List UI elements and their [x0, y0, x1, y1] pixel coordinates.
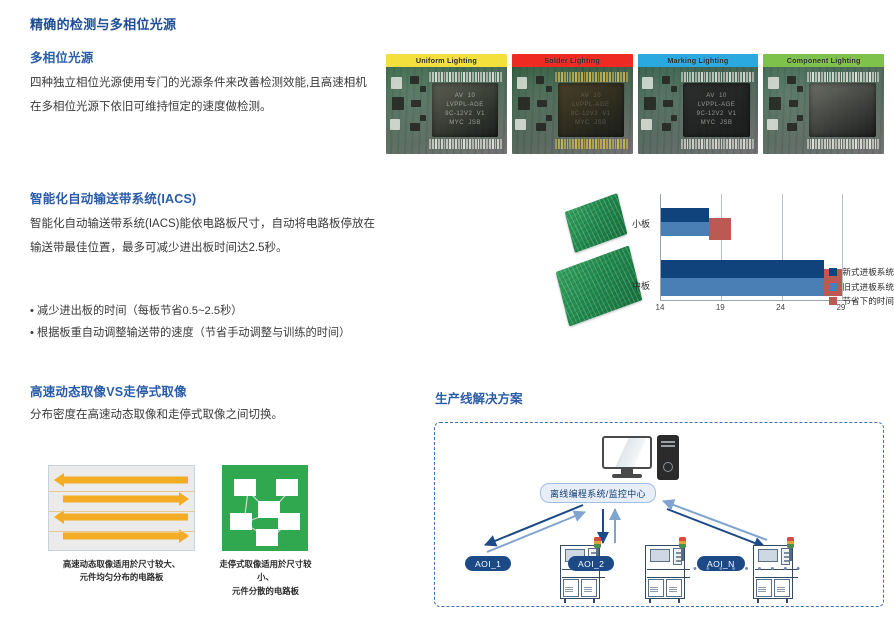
station-ellipsis: • • • • • • • • • [693, 563, 803, 575]
chart-tick-label: 29 [836, 303, 845, 312]
chart-bar-group-1 [661, 260, 854, 296]
pcb-thumbnail-small [568, 202, 624, 244]
chart-category-label-1: 中板 [632, 279, 650, 292]
stop-go-scan-caption: 走停式取像适用於尺寸较小、 元件分散的电路板 [212, 558, 319, 598]
machine-vent [650, 587, 658, 592]
ic-chip: AV 10 LVPPL-AGE 9C-12V2 V1 MYC JSB [558, 83, 624, 137]
pcb-photo-image: AV 10 LVPPL-AGE 9C-12V2 V1 MYC JSB [512, 67, 633, 154]
dynamic-scan-illustration [48, 465, 195, 551]
lighting-photo-4: Component Lighting [763, 54, 884, 154]
ic-chip-marking: AV 10 LVPPL-AGE 9C-12V2 V1 MYC JSB [697, 92, 737, 128]
chart-tick-label: 19 [716, 303, 725, 312]
lighting-photo-3: Marking LightingAV 10 LVPPL-AGE 9C-12V2 … [638, 54, 759, 154]
ic-chip-marking: AV 10 LVPPL-AGE 9C-12V2 V1 MYC JSB [571, 92, 611, 128]
section-lighting-title: 多相位光源 [30, 47, 94, 66]
chip-pin-row [807, 72, 879, 82]
signal-tower-lamp [594, 537, 601, 548]
chip-pin-row [555, 72, 627, 82]
chip-pin-row [807, 139, 879, 149]
machine-screen [650, 549, 670, 562]
chip-pin-row [681, 139, 753, 149]
pcb-photo-image: AV 10 LVPPL-AGE 9C-12V2 V1 MYC JSB [386, 67, 507, 154]
chart-bar-old-system [661, 222, 709, 236]
board-time-chart: 小板 中板 新式进板系统旧式进板系统节省下的时间 14192429 [560, 186, 894, 330]
signal-tower-lamp [679, 537, 686, 548]
chip-pin-row [555, 139, 627, 149]
signal-tower-lamp [787, 537, 794, 548]
ic-chip [809, 83, 875, 137]
lighting-photo-caption: Marking Lighting [638, 54, 759, 67]
iacs-bullet-2: • 根据板重自动调整输送带的速度（节省手动调整与训练的时间） [30, 322, 385, 344]
dynamic-scan-caption: 高速动态取像适用於尺寸较大、 元件均匀分布的电路板 [30, 558, 213, 585]
section-iacs-bullets: • 减少进出板的时间（每板节省0.5~2.5秒）• 根据板重自动调整输送带的速度… [30, 300, 385, 345]
machine-screen [758, 549, 778, 562]
lighting-photo-caption: Uniform Lighting [386, 54, 507, 67]
production-line-diagram: 离线编程系统/监控中心 AOI_1AOI_2AOI_N • • • • • • … [434, 422, 884, 607]
chip-pin-row [429, 139, 501, 149]
chart-legend-item-1: 旧式进板系统 [829, 281, 894, 293]
aoi-machine-2 [645, 537, 692, 599]
chart-bar-time-saved [709, 218, 731, 240]
pc-tower-icon [657, 435, 679, 480]
machine-vent [584, 587, 592, 592]
machine-vent [758, 587, 766, 592]
chart-tick-label: 14 [656, 303, 665, 312]
monitor-icon [602, 436, 652, 478]
aoi-station-label-1[interactable]: AOI_1 [465, 556, 511, 571]
page-title: 精确的检测与多相位光源 [30, 14, 176, 33]
chart-tick-label: 24 [776, 303, 785, 312]
section-scan-title: 高速动态取像VS走停式取像 [30, 381, 187, 400]
lighting-photo-2: Solder LightingAV 10 LVPPL-AGE 9C-12V2 V… [512, 54, 633, 154]
section-line-title: 生产线解决方案 [435, 388, 523, 407]
pcb-photo-image [763, 67, 884, 154]
pcb-thumbnail-medium [560, 258, 638, 314]
lighting-photo-caption: Solder Lighting [512, 54, 633, 67]
aoi-station-label-2[interactable]: AOI_2 [568, 556, 614, 571]
legend-label: 节省下的时间 [842, 295, 894, 307]
legend-label: 旧式进板系统 [842, 281, 894, 293]
lighting-photo-caption: Component Lighting [763, 54, 884, 67]
section-scan-body: 分布密度在高速动态取像和走停式取像之间切换。 [30, 406, 390, 422]
chart-plot-area [660, 194, 854, 301]
ic-chip-marking: AV 10 LVPPL-AGE 9C-12V2 V1 MYC JSB [445, 92, 485, 128]
lighting-photo-1: Uniform LightingAV 10 LVPPL-AGE 9C-12V2 … [386, 54, 507, 154]
chart-category-label-0: 小板 [632, 217, 650, 230]
section-lighting-body: 四种独立相位光源使用专门的光源条件来改善检测效能,且高速相机在多相位光源下依旧可… [30, 72, 375, 119]
ic-chip: AV 10 LVPPL-AGE 9C-12V2 V1 MYC JSB [432, 83, 498, 137]
scan-arrow-left-2 [55, 511, 188, 524]
pcb-photo-image: AV 10 LVPPL-AGE 9C-12V2 V1 MYC JSB [638, 67, 759, 154]
chip-pin-row [681, 72, 753, 82]
page-root: 精确的检测与多相位光源 多相位光源 四种独立相位光源使用专门的光源条件来改善检测… [0, 0, 894, 618]
iacs-bullet-1: • 减少进出板的时间（每板节省0.5~2.5秒） [30, 300, 385, 322]
chart-bar-new-system [661, 208, 709, 222]
section-iacs-body: 智能化自动输送带系统(IACS)能依电路板尺寸，自动将电路板停放在输送带最佳位置… [30, 213, 380, 260]
chart-bar-old-system [661, 278, 824, 296]
chart-legend-item-0: 新式进板系统 [829, 266, 894, 278]
ic-chip: AV 10 LVPPL-AGE 9C-12V2 V1 MYC JSB [683, 83, 749, 137]
stop-go-scan-illustration [222, 465, 308, 551]
central-control-label: 离线编程系统/监控中心 [540, 483, 656, 503]
machine-control-panel [673, 548, 682, 565]
scan-arrow-right-1 [55, 492, 188, 505]
legend-swatch [829, 283, 837, 291]
chart-bar-new-system [661, 260, 824, 278]
machine-vent [669, 587, 677, 592]
machine-vent [777, 587, 785, 592]
scan-arrow-left-1 [55, 474, 188, 487]
machine-vent [565, 587, 573, 592]
lighting-photo-strip: Uniform LightingAV 10 LVPPL-AGE 9C-12V2 … [386, 54, 884, 154]
chip-pin-row [429, 72, 501, 82]
chart-bar-group-0 [661, 208, 854, 236]
legend-swatch [829, 268, 837, 276]
section-iacs-title: 智能化自动输送带系统(IACS) [30, 188, 196, 207]
legend-label: 新式进板系统 [842, 266, 894, 278]
